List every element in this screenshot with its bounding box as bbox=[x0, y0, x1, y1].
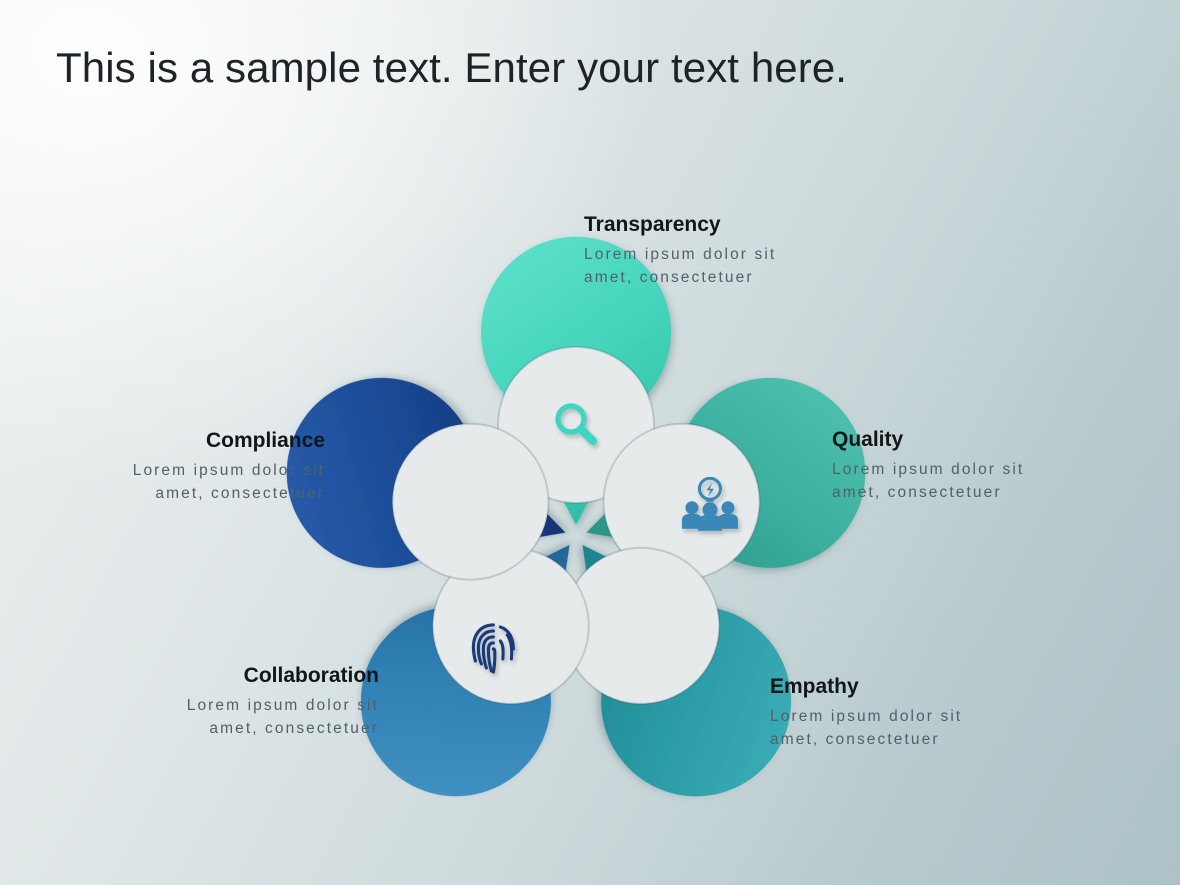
label-title-transparency: Transparency bbox=[584, 212, 776, 237]
label-transparency: Transparency Lorem ipsum dolor sit amet,… bbox=[584, 212, 776, 290]
label-desc-compliance: Lorem ipsum dolor sit amet, consectetuer bbox=[0, 459, 325, 506]
desc-line-2: amet, consectetuer bbox=[832, 481, 1024, 504]
label-desc-transparency: Lorem ipsum dolor sit amet, consectetuer bbox=[584, 243, 776, 290]
label-title-empathy: Empathy bbox=[770, 674, 962, 699]
label-title-quality: Quality bbox=[832, 427, 1024, 452]
desc-line-1: Lorem ipsum dolor sit bbox=[832, 458, 1024, 481]
desc-line-2: amet, consectetuer bbox=[0, 717, 379, 740]
label-compliance: Compliance Lorem ipsum dolor sit amet, c… bbox=[0, 428, 325, 506]
petal-cycle-diagram bbox=[343, 303, 809, 769]
label-quality: Quality Lorem ipsum dolor sit amet, cons… bbox=[832, 427, 1024, 505]
desc-line-2: amet, consectetuer bbox=[584, 266, 776, 289]
label-title-compliance: Compliance bbox=[0, 428, 325, 453]
label-empathy: Empathy Lorem ipsum dolor sit amet, cons… bbox=[770, 674, 962, 752]
desc-line-1: Lorem ipsum dolor sit bbox=[770, 705, 962, 728]
label-desc-quality: Lorem ipsum dolor sit amet, consectetuer bbox=[832, 458, 1024, 505]
desc-line-2: amet, consectetuer bbox=[770, 728, 962, 751]
desc-line-2: amet, consectetuer bbox=[0, 482, 325, 505]
label-collaboration: Collaboration Lorem ipsum dolor sit amet… bbox=[0, 663, 379, 741]
label-desc-empathy: Lorem ipsum dolor sit amet, consectetuer bbox=[770, 705, 962, 752]
label-desc-collaboration: Lorem ipsum dolor sit amet, consectetuer bbox=[0, 694, 379, 741]
page-title: This is a sample text. Enter your text h… bbox=[56, 44, 847, 92]
desc-line-1: Lorem ipsum dolor sit bbox=[0, 459, 325, 482]
slide-canvas: This is a sample text. Enter your text h… bbox=[0, 0, 1180, 885]
label-title-collaboration: Collaboration bbox=[0, 663, 379, 688]
desc-line-1: Lorem ipsum dolor sit bbox=[0, 694, 379, 717]
desc-line-1: Lorem ipsum dolor sit bbox=[584, 243, 776, 266]
